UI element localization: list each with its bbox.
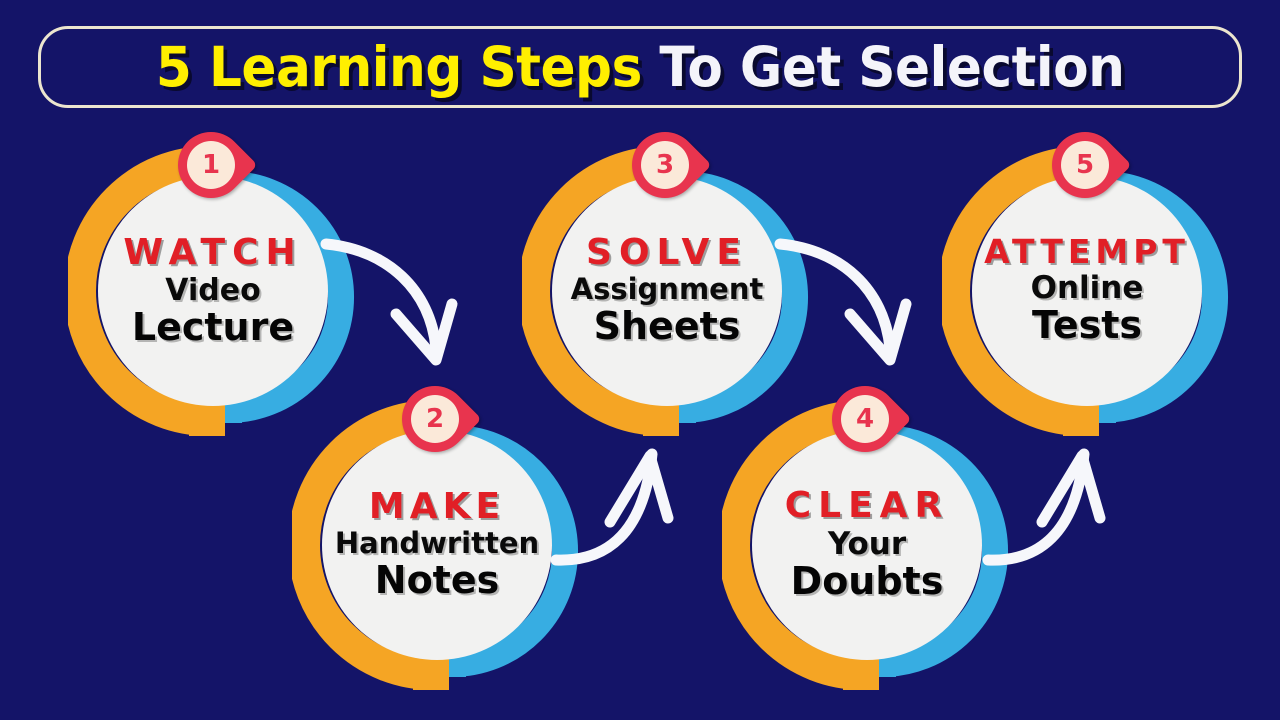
- step-kicker: ATTEMPT: [984, 235, 1190, 270]
- step-content: SOLVE Assignment Sheets: [552, 176, 782, 406]
- step-kicker: WATCH: [123, 234, 302, 272]
- step-line3: Tests: [1032, 305, 1142, 347]
- step-line3: Doubts: [791, 561, 944, 603]
- badge-number: 4: [841, 395, 889, 443]
- step-badge-1: 1: [178, 132, 244, 198]
- badge-number: 2: [411, 395, 459, 443]
- step-content: ATTEMPT Online Tests: [972, 176, 1202, 406]
- step-line2: Video: [165, 274, 260, 307]
- step-node-3[interactable]: SOLVE Assignment Sheets 3: [522, 146, 812, 436]
- step-line2: Your: [828, 527, 906, 561]
- step-node-1[interactable]: WATCH Video Lecture 1: [68, 146, 358, 436]
- step-badge-2: 2: [402, 386, 468, 452]
- step-node-4[interactable]: CLEAR Your Doubts 4: [722, 400, 1012, 690]
- page-title-highlight: 5 Learning Steps: [156, 35, 642, 99]
- step-line2: Handwritten: [335, 528, 539, 560]
- step-kicker: CLEAR: [785, 487, 950, 525]
- page-title: 5 Learning Steps To Get Selection: [156, 40, 1125, 95]
- step-content: WATCH Video Lecture: [98, 176, 328, 406]
- title-banner: 5 Learning Steps To Get Selection: [38, 26, 1242, 108]
- step-node-2[interactable]: MAKE Handwritten Notes 2: [292, 400, 582, 690]
- step-line2: Online: [1031, 271, 1144, 305]
- step-content: MAKE Handwritten Notes: [322, 430, 552, 660]
- step-kicker: SOLVE: [586, 234, 748, 272]
- badge-number: 1: [187, 141, 235, 189]
- step-kicker: MAKE: [369, 488, 505, 526]
- step-badge-4: 4: [832, 386, 898, 452]
- step-line3: Lecture: [132, 307, 294, 349]
- step-line2: Assignment: [571, 274, 764, 306]
- infographic-canvas: 5 Learning Steps To Get Selection: [0, 0, 1280, 720]
- step-content: CLEAR Your Doubts: [752, 430, 982, 660]
- step-line3: Sheets: [594, 306, 741, 348]
- step-line3: Notes: [375, 560, 499, 602]
- badge-number: 5: [1061, 141, 1109, 189]
- badge-number: 3: [641, 141, 689, 189]
- page-title-rest: To Get Selection: [642, 35, 1125, 99]
- step-badge-3: 3: [632, 132, 698, 198]
- step-badge-5: 5: [1052, 132, 1118, 198]
- step-node-5[interactable]: ATTEMPT Online Tests 5: [942, 146, 1232, 436]
